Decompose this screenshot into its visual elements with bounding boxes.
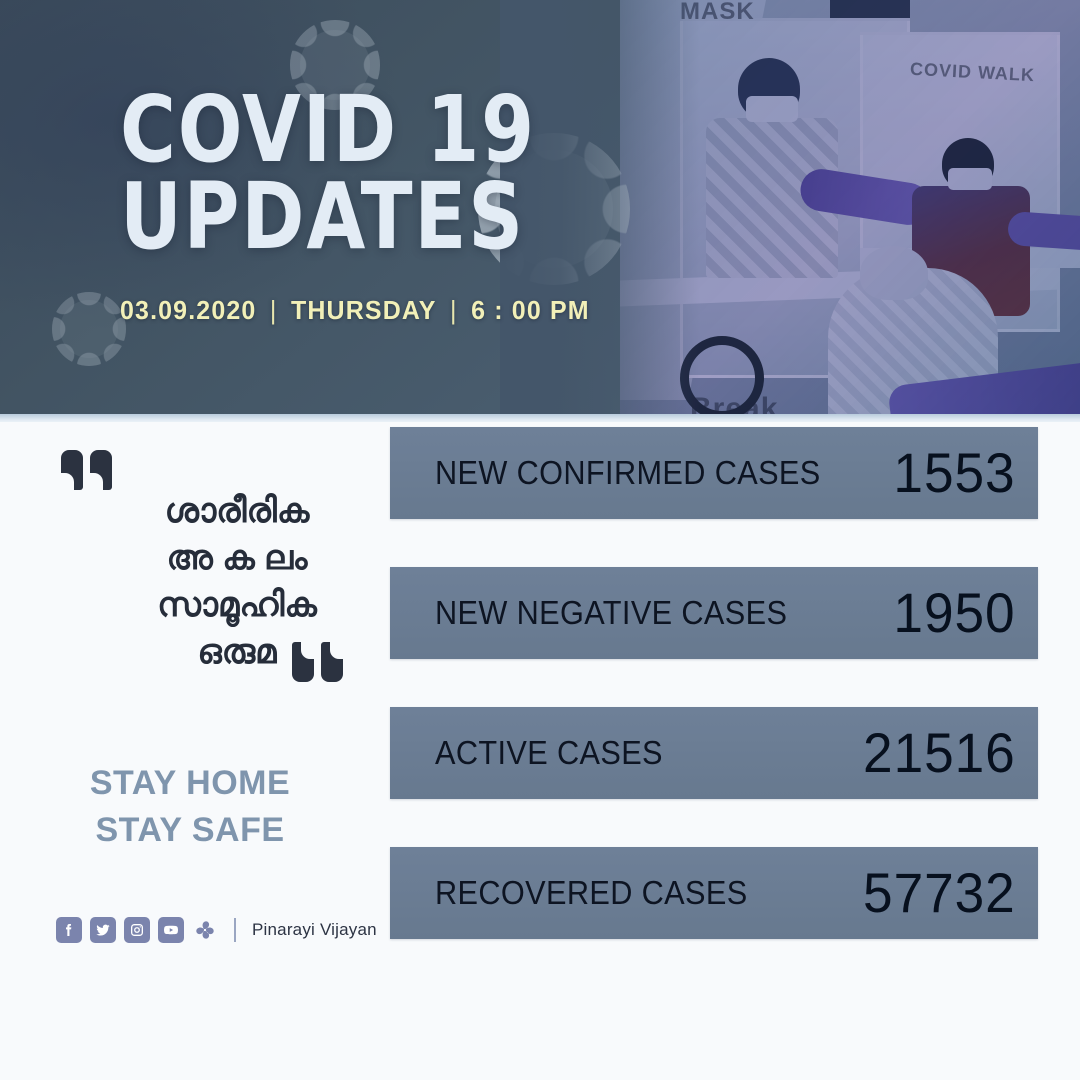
quote-close-icon [285,642,343,682]
instagram-icon[interactable] [124,917,150,943]
quote-line-three: സാമൂഹിക [119,582,355,629]
twitter-icon[interactable] [90,917,116,943]
page-title: COVID 19 UPDATES [120,86,1003,261]
quote-open-icon [61,450,119,490]
meta-separator-one: | [270,295,278,326]
poster-header: MASK COVID WALK Break COVID 19 UPDATES 0… [0,0,1080,422]
slogan-line-one: STAY HOME [0,760,380,807]
covid-update-poster: MASK COVID WALK Break COVID 19 UPDATES 0… [0,0,1080,1080]
photo-chair [887,358,1080,422]
stat-label: NEW NEGATIVE CASES [435,594,856,632]
social-divider [234,918,236,942]
quote-line-one: ശാരീരിക [119,488,355,535]
youtube-icon[interactable] [158,917,184,943]
slogan: STAY HOME STAY SAFE [0,760,380,854]
left-column: ശാരീരിക അ ക ലം സാമൂഹിക ഒരുമ STAY HOME ST… [0,422,380,1080]
social-bar: Pinarayi Vijayan [56,917,377,943]
stat-value: 1950 [894,585,1016,641]
stat-value: 21516 [863,725,1016,781]
slogan-line-two: STAY SAFE [0,807,380,854]
title-line-two: UPDATES [120,173,1003,260]
stat-card-new-confirmed: NEW CONFIRMED CASES 1553 [390,427,1038,519]
stat-label: ACTIVE CASES [435,734,826,772]
quote-block: ശാരീരിക അ ക ലം സാമൂഹിക ഒരുമ [55,450,355,676]
stat-card-new-negative: NEW NEGATIVE CASES 1950 [390,567,1038,659]
stat-label: NEW CONFIRMED CASES [435,454,856,492]
poster-body: ശാരീരിക അ ക ലം സാമൂഹിക ഒരുമ STAY HOME ST… [0,422,1080,1080]
stat-card-active: ACTIVE CASES 21516 [390,707,1038,799]
stat-card-list: NEW CONFIRMED CASES 1553 NEW NEGATIVE CA… [390,427,1038,939]
four-petal-logo-icon[interactable] [192,917,218,943]
quote-line-two: അ ക ലം [119,535,355,582]
update-time: 6 : 00 PM [471,295,590,326]
meta-separator-two: | [450,295,458,326]
header-datetime: 03.09.2020 | THURSDAY | 6 : 00 PM [120,295,1042,326]
update-date: 03.09.2020 [120,295,256,326]
stat-label: RECOVERED CASES [435,874,826,912]
facebook-icon[interactable] [56,917,82,943]
stat-card-recovered: RECOVERED CASES 57732 [390,847,1038,939]
update-day: THURSDAY [291,295,437,326]
stat-value: 57732 [863,865,1016,921]
account-name: Pinarayi Vijayan [252,920,377,940]
header-bottom-edge [0,414,1080,422]
stat-value: 1553 [894,445,1016,501]
header-content: COVID 19 UPDATES 03.09.2020 | THURSDAY |… [0,0,1080,326]
